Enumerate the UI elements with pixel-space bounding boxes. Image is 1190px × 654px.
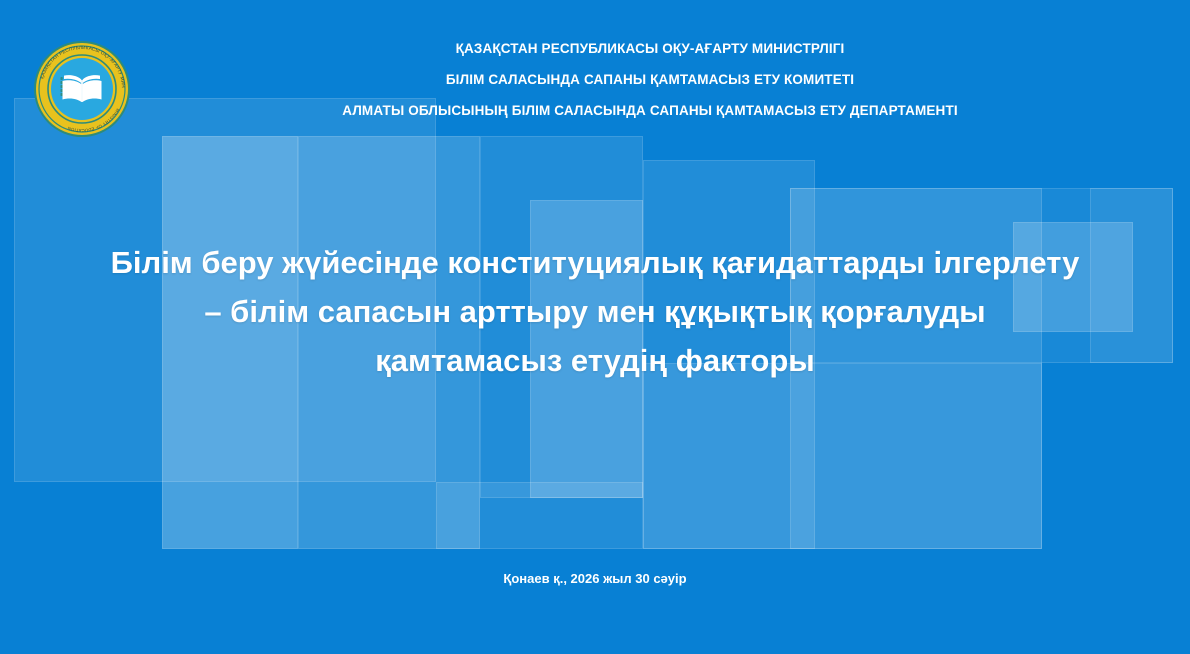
title-line-2: – білім сапасын арттыру мен құқықтық қор… (30, 287, 1160, 336)
title-line-1: Білім беру жүйесінде конституциялық қағи… (30, 238, 1160, 287)
title-line-3: қамтамасыз етудің факторы (30, 336, 1160, 385)
header-line-committee: БІЛІМ САЛАСЫНДА САПАНЫ ҚАМТАМАСЫЗ ЕТУ КО… (150, 64, 1150, 95)
decorative-rectangle (436, 482, 643, 549)
header-line-department: АЛМАТЫ ОБЛЫСЫНЫҢ БІЛІМ САЛАСЫНДА САПАНЫ … (150, 95, 1150, 126)
decorative-rectangle (643, 363, 1042, 549)
emblem-icon: ҚАЗАҚСТАН РЕСПУБЛИКАСЫ ОҚУ-АҒАРТУ МИНИСТ… (32, 39, 132, 139)
ministry-emblem-logo: ҚАЗАҚСТАН РЕСПУБЛИКАСЫ ОҚУ-АҒАРТУ МИНИСТ… (32, 39, 132, 139)
presentation-slide: ҚАЗАҚСТАН РЕСПУБЛИКАСЫ ОҚУ-АҒАРТУ МИНИСТ… (0, 0, 1190, 654)
slide-title: Білім беру жүйесінде конституциялық қағи… (30, 238, 1160, 385)
header-line-ministry: ҚАЗАҚСТАН РЕСПУБЛИКАСЫ ОҚУ-АҒАРТУ МИНИСТ… (150, 33, 1150, 64)
slide-footer-place-date: Қонаев қ., 2026 жыл 30 сәуір (0, 571, 1190, 586)
header-block: ҚАЗАҚСТАН РЕСПУБЛИКАСЫ ОҚУ-АҒАРТУ МИНИСТ… (150, 33, 1150, 126)
